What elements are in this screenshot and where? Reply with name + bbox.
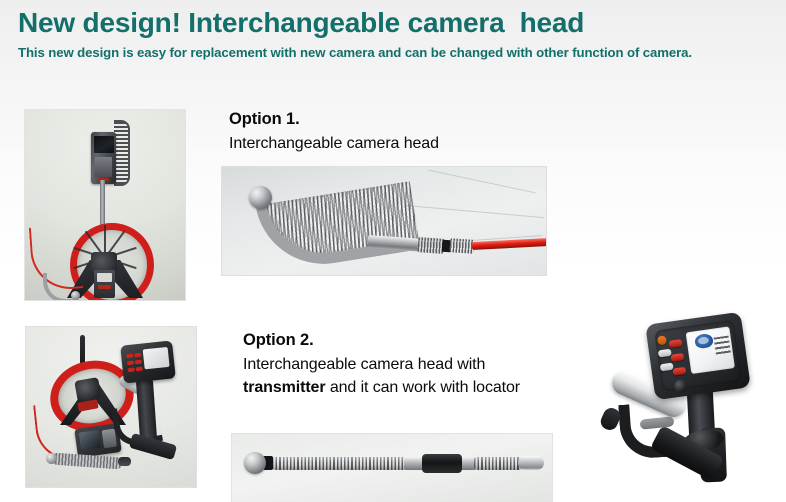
locator-button-graphic [660, 363, 674, 372]
locator-button-graphic [127, 360, 134, 365]
locator-button-graphic [669, 339, 683, 348]
slide-canvas: New design! Interchangeable camera head … [0, 0, 786, 502]
locator-button-graphic [128, 367, 135, 372]
option-2-line-1: Interchangeable camera head [243, 356, 453, 373]
option-1-description: Interchangeable camera head [229, 133, 559, 156]
monitor-body-graphic [91, 132, 116, 184]
knurled-connector-graphic [418, 237, 445, 254]
control-box-screen-graphic [97, 273, 112, 282]
page-subtitle: This new design is easy for replacement … [18, 44, 760, 61]
control-box-red-strip-graphic [98, 285, 111, 289]
image-interchangeable-camera-head-plain [222, 167, 546, 275]
locator-button-graphic [671, 353, 685, 362]
camera-head-ball-graphic [71, 291, 80, 300]
control-box-graphic [94, 270, 115, 298]
reel-hub-graphic [74, 377, 101, 403]
cable-end-connector-graphic [118, 457, 131, 466]
option-2-line-2-pre: with [457, 356, 485, 373]
image-handheld-locator [588, 310, 778, 502]
cable-end-connector-graphic [518, 456, 544, 470]
flexible-spring-neck-graphic [474, 457, 522, 470]
flexible-spring-neck-graphic [272, 457, 407, 470]
locator-screen-graphic [143, 347, 170, 370]
camera-ball-lens-graphic [46, 453, 57, 464]
locator-screen-graphic [686, 326, 735, 374]
locator-knob-graphic [673, 379, 688, 394]
locator-head-graphic [120, 340, 176, 383]
locator-screen-reading-graphic [714, 336, 731, 356]
locator-button-graphic [673, 367, 687, 376]
option-2-line-3: with locator [440, 379, 520, 396]
knurled-connector-graphic [450, 238, 475, 254]
locator-button-graphic [135, 367, 142, 372]
locator-button-graphic [134, 353, 141, 358]
locator-power-button-graphic [657, 335, 667, 345]
monitor-keypad-graphic [95, 157, 112, 177]
metal-sleeve-graphic [404, 457, 424, 470]
option-2-transmitter-emphasis: transmitter [243, 379, 325, 396]
option-2-line-2-post: and it can work [325, 379, 435, 396]
page-title: New design! Interchangeable camera head [18, 6, 584, 40]
locator-head-graphic [645, 312, 751, 401]
image-reel-inspection-system-upright [25, 110, 185, 300]
monitor-screen-graphic [94, 136, 114, 153]
locator-button-graphic [658, 349, 672, 358]
coiled-cord-graphic [114, 120, 130, 186]
background-scratch-graphic [404, 205, 544, 218]
locator-handle-graphic [136, 376, 158, 443]
transmitter-module-graphic [422, 454, 462, 473]
camera-ball-lens-graphic [244, 452, 266, 474]
camera-head-spring-graphic [52, 453, 123, 470]
locator-bezel-graphic [654, 320, 742, 393]
monitor-screen-graphic [79, 430, 101, 451]
option-2-heading: Option 2. [243, 331, 314, 350]
option-2-description: Interchangeable camera head with transmi… [243, 354, 563, 399]
locator-button-graphic [126, 354, 133, 359]
spring-ribs-graphic [256, 181, 421, 274]
image-camera-head-with-transmitter [232, 434, 552, 502]
locator-button-graphic [135, 360, 142, 365]
option-1-heading: Option 1. [229, 110, 300, 129]
camera-ball-lens-graphic [249, 186, 272, 209]
image-system-with-locator [26, 327, 196, 487]
background-scratch-graphic [428, 170, 536, 194]
brand-logo-icon [694, 333, 714, 349]
